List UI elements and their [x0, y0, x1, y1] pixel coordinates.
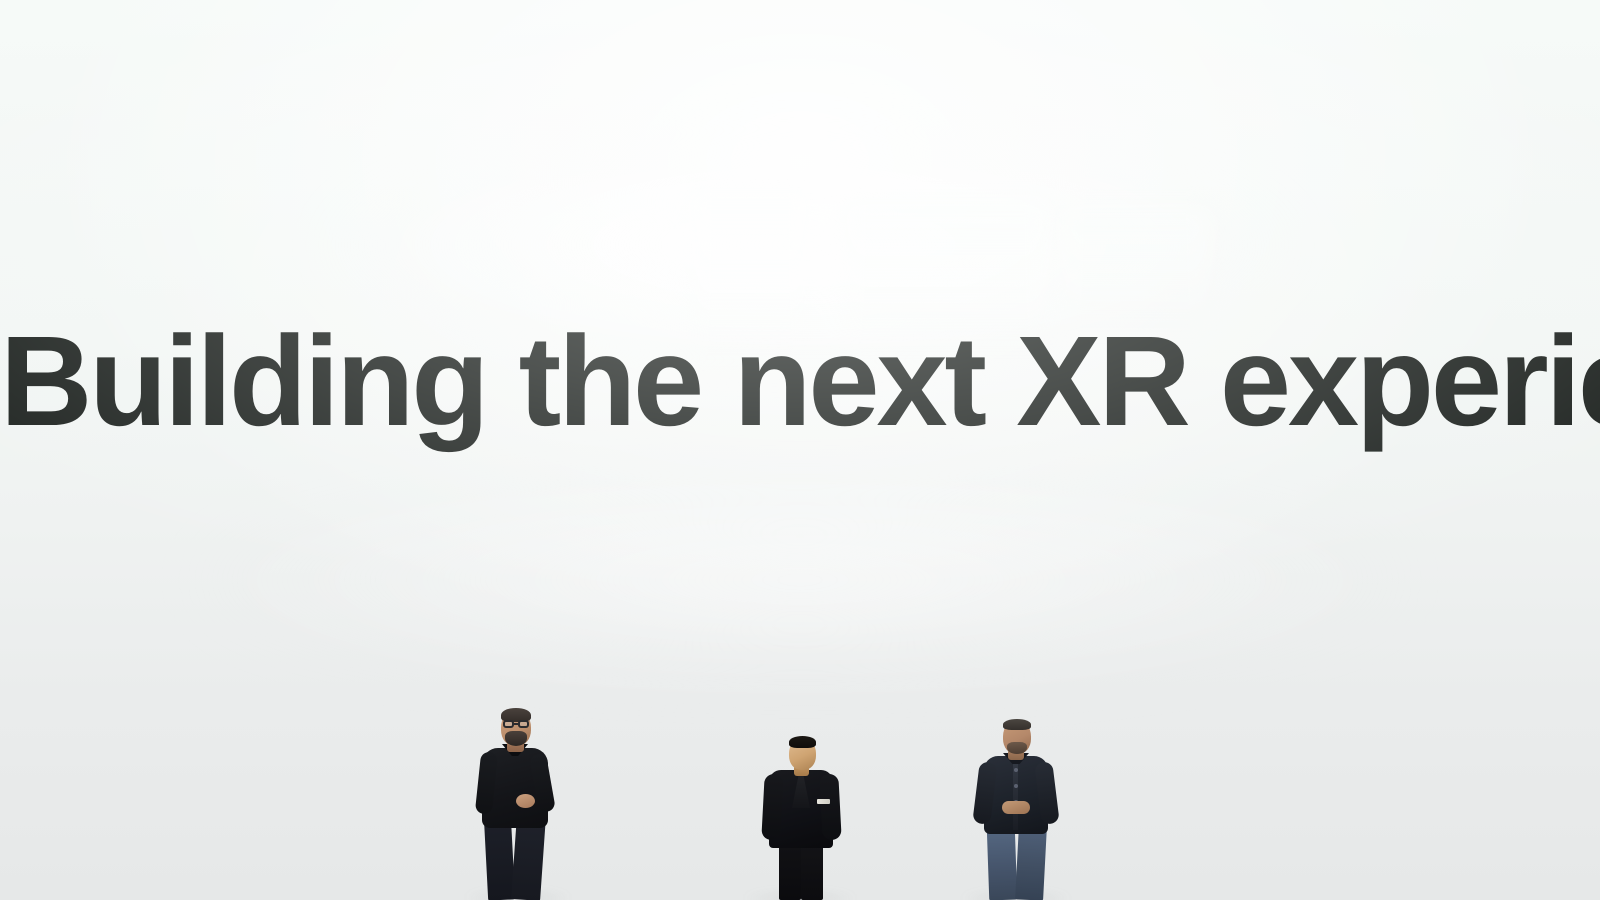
background-glow-lower: [200, 470, 1400, 690]
presenter-3-leg-right: [1015, 825, 1047, 900]
presenter-1-glasses: [502, 720, 530, 728]
presenter-2-pocket-square: [817, 799, 830, 804]
presenter-1-glasses-bridge: [514, 723, 518, 725]
presenter-2-arm-left: [761, 774, 783, 841]
presenter-3-shirt-button-2: [1014, 784, 1018, 788]
presenter-3-hands: [1002, 801, 1030, 814]
presenter-3-leg-left: [987, 826, 1018, 900]
presenter-2-arm-right: [819, 774, 841, 841]
presenter-3: [962, 708, 1070, 900]
presenter-2: [745, 728, 855, 900]
presenter-2-hair: [789, 736, 816, 748]
presenter-3-beard: [1007, 742, 1027, 754]
presenter-1-hands: [516, 794, 535, 808]
presenter-1-glasses-lens-right: [518, 720, 529, 728]
presenter-3-hair: [1003, 719, 1031, 730]
presenter-1-beard: [505, 731, 527, 746]
presenter-3-shirt-button-1: [1014, 768, 1018, 772]
presenter-1-glasses-lens-left: [503, 720, 514, 728]
presenter-1-leg-left: [484, 815, 515, 900]
presenter-1: [470, 705, 566, 900]
presentation-stage: Building the next XR experience: [0, 0, 1600, 900]
slide-headline: Building the next XR experience: [0, 318, 1600, 446]
